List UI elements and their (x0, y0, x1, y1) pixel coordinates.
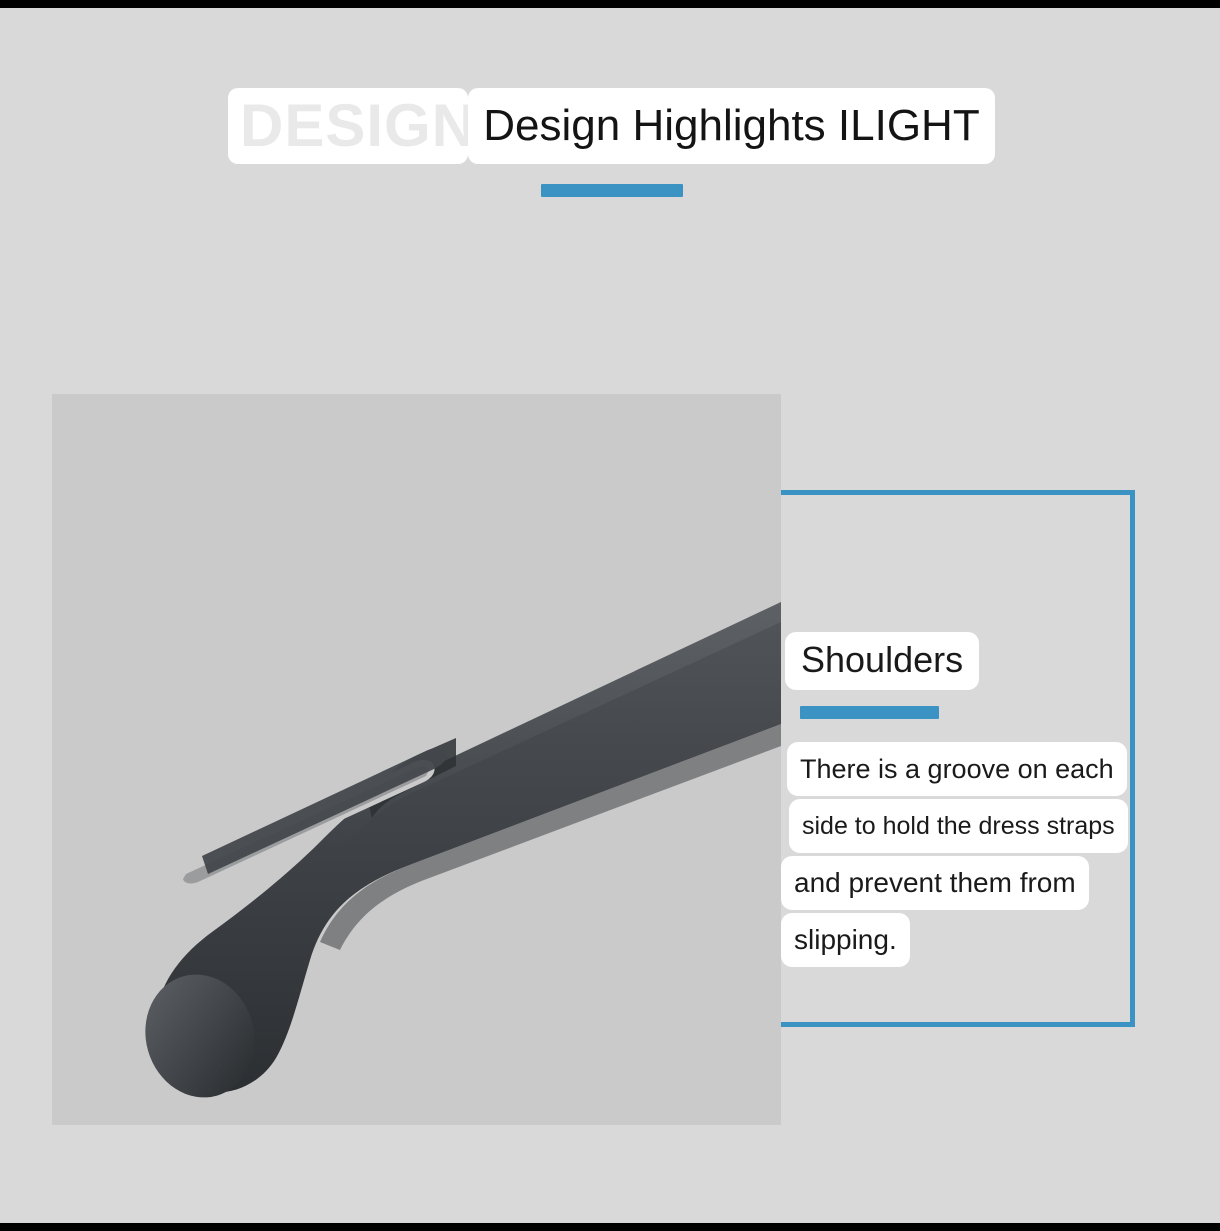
page-title: Design Highlights ILIGHT (468, 88, 995, 164)
product-photo-panel[interactable] (52, 394, 781, 1125)
description-line: slipping. (781, 913, 910, 967)
slide-canvas: DESIGN HIGH DESIGN HIGH Design Highlight… (0, 8, 1220, 1223)
description-line: There is a groove on each (787, 742, 1127, 796)
header: DESIGN HIGH DESIGN HIGH Design Highlight… (0, 8, 1220, 218)
hanger-shoulder-arm-icon (52, 394, 781, 1125)
callout-description: There is a groove on each side to hold t… (781, 742, 1141, 970)
letterbox-bar-top (0, 0, 1220, 8)
callout-heading: Shoulders (785, 632, 979, 690)
watermark-plate: DESIGN HIGH (228, 88, 468, 164)
description-line: side to hold the dress straps (789, 799, 1128, 853)
title-accent-rule (541, 184, 683, 197)
description-line: and prevent them from (781, 856, 1089, 910)
letterbox-bar-bottom (0, 1223, 1220, 1231)
page-title-plate: Design Highlights ILIGHT (468, 88, 995, 164)
callout-accent-rule (800, 706, 939, 719)
